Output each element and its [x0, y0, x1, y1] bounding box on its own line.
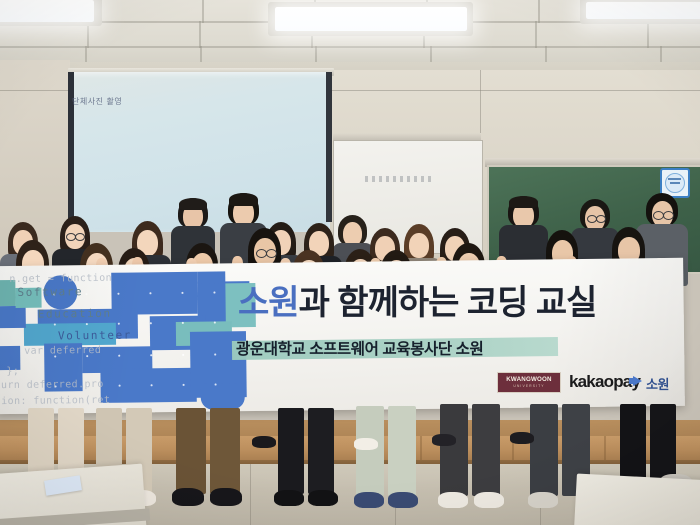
projector-screen-rail-right [326, 72, 332, 222]
legs [530, 404, 558, 496]
ceiling-lamp-1 [0, 0, 94, 22]
ceiling-lamp-3 [586, 2, 700, 19]
shoe [474, 492, 504, 508]
kwangwoon-university-logo: KWANGWOON UNIVERSITY [497, 372, 561, 393]
shoe [172, 488, 204, 506]
photo-scene: 단체사진 촬영 [0, 0, 700, 525]
shoe [252, 436, 276, 448]
shoe [354, 438, 378, 450]
shoe [432, 434, 456, 446]
ceiling-lamp-2 [275, 7, 467, 31]
banner-title: 소원과 함께하는 코딩 교실 [238, 286, 596, 320]
shoe [438, 492, 468, 508]
banner-title-rest: 과 함께하는 코딩 교실 [299, 284, 597, 322]
shoe [354, 492, 384, 508]
desk-right [573, 473, 700, 525]
banner-title-highlight: 소원 [238, 284, 299, 322]
shoe [210, 488, 242, 506]
shoe [528, 492, 558, 508]
shoe [510, 432, 534, 444]
shoe [274, 490, 304, 506]
legs [308, 408, 334, 494]
shoe [308, 490, 338, 506]
legs [278, 408, 304, 494]
banner-subtitle: 광운대학교 소프트웨어 교육봉사단 소원 [236, 337, 483, 359]
legs [472, 404, 500, 496]
sowon-logo-text: 소원 [646, 374, 669, 393]
legs [176, 408, 206, 494]
kwangwoon-name: KWANGWOON [506, 377, 551, 383]
shoe [388, 492, 418, 508]
whiteboard-scribble [365, 176, 435, 182]
legs [388, 406, 416, 496]
legs [440, 404, 468, 496]
legs [356, 406, 384, 496]
legs [210, 408, 240, 494]
sowon-logo-arrow-icon [633, 376, 642, 386]
projector-slide-text: 단체사진 촬영 [72, 96, 192, 107]
kwangwoon-subtitle: UNIVERSITY [513, 385, 544, 388]
